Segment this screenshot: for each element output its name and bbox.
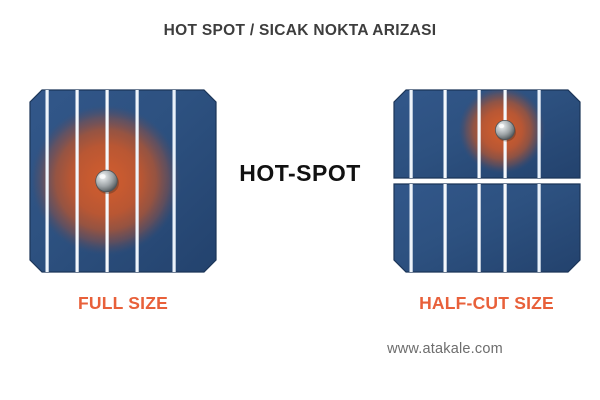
full-size-caption: FULL SIZE (30, 293, 216, 314)
half-cut-caption: HALF-CUT SIZE (393, 293, 580, 314)
half-cut-cell-graphic (392, 88, 582, 274)
page-title: HOT SPOT / SICAK NOKTA ARIZASI (0, 22, 600, 40)
cell-bottom-half (394, 184, 580, 272)
website-url: www.atakale.com (330, 341, 560, 357)
diagram-canvas: HOT SPOT / SICAK NOKTA ARIZASI (0, 0, 600, 400)
